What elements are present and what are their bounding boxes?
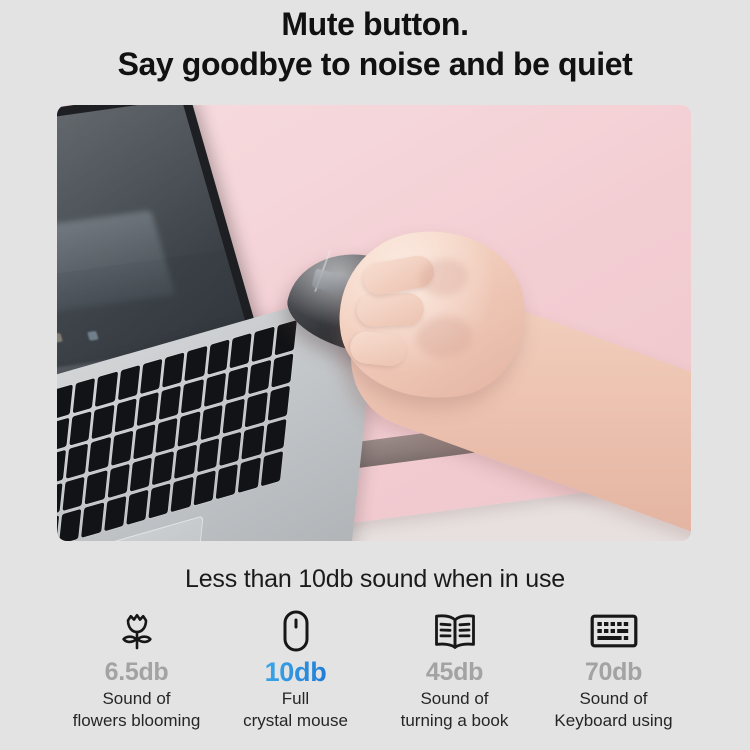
- desktop-icon: [87, 331, 98, 341]
- stat-item-book: 45db Sound of turning a book: [375, 608, 534, 732]
- stat-caption-line-1: Sound of: [57, 688, 216, 710]
- stat-caption-line-1: Sound of: [375, 688, 534, 710]
- stat-item-keyboard: 70db Sound of Keyboard using: [534, 608, 693, 732]
- stat-caption-line-2: flowers blooming: [57, 710, 216, 732]
- stat-caption-line-2: crystal mouse: [216, 710, 375, 732]
- stat-item-flowers: 6.5db Sound of flowers blooming: [57, 608, 216, 732]
- page-title: Mute button. Say goodbye to noise and be…: [0, 4, 750, 84]
- stat-value: 45db: [375, 658, 534, 686]
- finger: [349, 330, 408, 368]
- computer-mouse-icon: [216, 608, 375, 654]
- product-photo: [57, 105, 691, 541]
- stat-caption-line-1: Full: [216, 688, 375, 710]
- stat-value: 6.5db: [57, 658, 216, 686]
- stat-caption-line-2: Keyboard using: [534, 710, 693, 732]
- headline-line-2: Say goodbye to noise and be quiet: [0, 44, 750, 84]
- stat-caption: Sound of flowers blooming: [57, 688, 216, 732]
- stat-caption: Sound of turning a book: [375, 688, 534, 732]
- open-book-icon: [375, 608, 534, 654]
- stat-value: 70db: [534, 658, 693, 686]
- headline-line-1: Mute button.: [0, 4, 750, 44]
- knuckle-shading: [414, 313, 475, 361]
- stat-caption-line-1: Sound of: [534, 688, 693, 710]
- subheading: Less than 10db sound when in use: [0, 563, 750, 595]
- stat-caption-line-2: turning a book: [375, 710, 534, 732]
- stat-value: 10db: [216, 658, 375, 686]
- stat-item-mouse: 10db Full crystal mouse: [216, 608, 375, 732]
- keyboard-icon: [534, 608, 693, 654]
- desktop-icon: [57, 333, 63, 343]
- finger: [356, 293, 424, 327]
- stat-caption: Sound of Keyboard using: [534, 688, 693, 732]
- decibel-comparison-row: 6.5db Sound of flowers blooming 10db Ful…: [57, 608, 693, 732]
- stat-caption: Full crystal mouse: [216, 688, 375, 732]
- tulip-flower-icon: [57, 608, 216, 654]
- product-banner: Mute button. Say goodbye to noise and be…: [0, 0, 750, 750]
